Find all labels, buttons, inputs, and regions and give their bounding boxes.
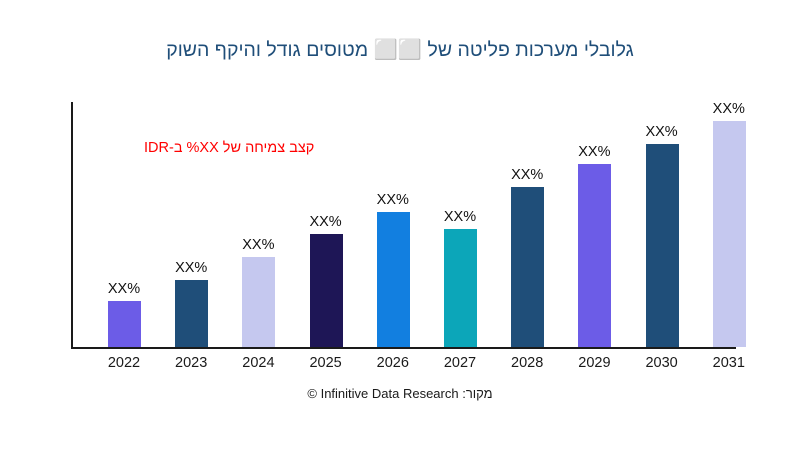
bar-group: XX% — [435, 102, 485, 349]
x-tick-2022: 2022 — [90, 355, 158, 371]
bar-group: XX% — [368, 102, 418, 349]
bar[interactable] — [646, 144, 679, 347]
bar[interactable] — [444, 229, 477, 347]
x-tick-2025: 2025 — [292, 355, 360, 371]
cagr-annotation: קצב צמיחה של XX% ב-IDR — [144, 140, 314, 156]
x-tick-2030: 2030 — [628, 355, 696, 371]
bar[interactable] — [578, 164, 611, 347]
x-tick-2029: 2029 — [560, 355, 628, 371]
bar-value-label: XX% — [292, 214, 360, 230]
bar[interactable] — [511, 187, 544, 347]
x-tick-2028: 2028 — [493, 355, 561, 371]
bar[interactable] — [242, 257, 275, 347]
x-tick-2023: 2023 — [157, 355, 225, 371]
bar[interactable] — [377, 212, 410, 347]
x-axis-tick-labels: 2022202320242025202620272028202920302031 — [71, 355, 800, 377]
x-tick-2026: 2026 — [359, 355, 427, 371]
bar-value-label: XX% — [560, 144, 628, 160]
x-tick-2027: 2027 — [426, 355, 494, 371]
chart-container: גלובלי מערכות פליטה של ⬜⬜ מטוסים גודל וה… — [0, 0, 800, 450]
bar-value-label: XX% — [157, 260, 225, 276]
bar-group: XX% — [704, 102, 754, 349]
x-tick-2024: 2024 — [224, 355, 292, 371]
bar-group: XX% — [99, 102, 149, 349]
x-tick-2031: 2031 — [695, 355, 763, 371]
bar-group: XX% — [637, 102, 687, 349]
bar-value-label: XX% — [628, 124, 696, 140]
source-note: מקור: Infinitive Data Research © — [0, 386, 800, 401]
bar-value-label: XX% — [90, 281, 158, 297]
bar-value-label: XX% — [493, 167, 561, 183]
bar[interactable] — [108, 301, 141, 347]
bar-group: XX% — [569, 102, 619, 349]
bar-group: XX% — [502, 102, 552, 349]
chart-title: גלובלי מערכות פליטה של ⬜⬜ מטוסים גודל וה… — [0, 38, 800, 62]
bar[interactable] — [713, 121, 746, 347]
bar-value-label: XX% — [224, 237, 292, 253]
bar-value-label: XX% — [426, 209, 494, 225]
bar-value-label: XX% — [359, 192, 427, 208]
bar-value-label: XX% — [695, 101, 763, 117]
bar[interactable] — [175, 280, 208, 347]
bar[interactable] — [310, 234, 343, 347]
